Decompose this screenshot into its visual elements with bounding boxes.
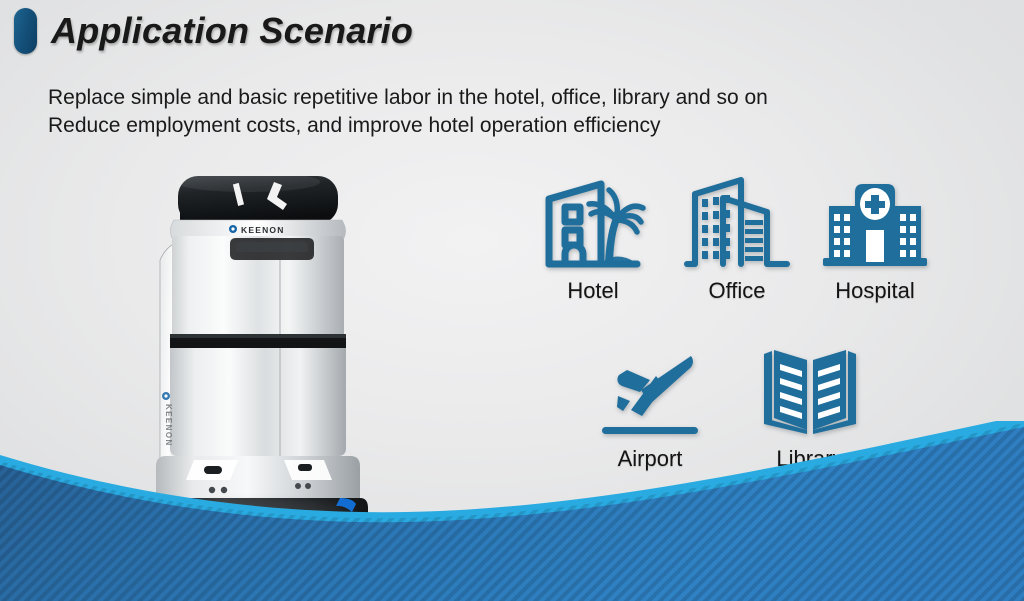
scenario-label-office: Office	[672, 278, 802, 304]
body-copy-line-2: Reduce employment costs, and improve hot…	[48, 112, 928, 140]
scenario-label-hospital: Hospital	[810, 278, 940, 304]
rounded-pill-bullet-icon	[14, 8, 37, 54]
slide-canvas: Application Scenario Replace simple and …	[0, 0, 1024, 601]
office-buildings-icon	[672, 168, 802, 274]
scenario-item-hospital[interactable]: Hospital	[810, 168, 940, 304]
scenario-item-office[interactable]: Office	[672, 168, 802, 304]
body-copy-line-1: Replace simple and basic repetitive labo…	[48, 84, 928, 112]
scenario-item-hotel[interactable]: Hotel	[528, 168, 658, 304]
bottom-wave-decoration	[0, 421, 1024, 601]
svg-text:KEENON: KEENON	[241, 225, 285, 235]
page-title: Application Scenario	[51, 13, 413, 49]
body-copy: Replace simple and basic repetitive labo…	[48, 84, 928, 140]
hospital-building-cross-icon	[810, 168, 940, 274]
slide-header: Application Scenario	[14, 8, 413, 54]
scenario-label-hotel: Hotel	[528, 278, 658, 304]
hotel-building-palm-icon	[528, 168, 658, 274]
